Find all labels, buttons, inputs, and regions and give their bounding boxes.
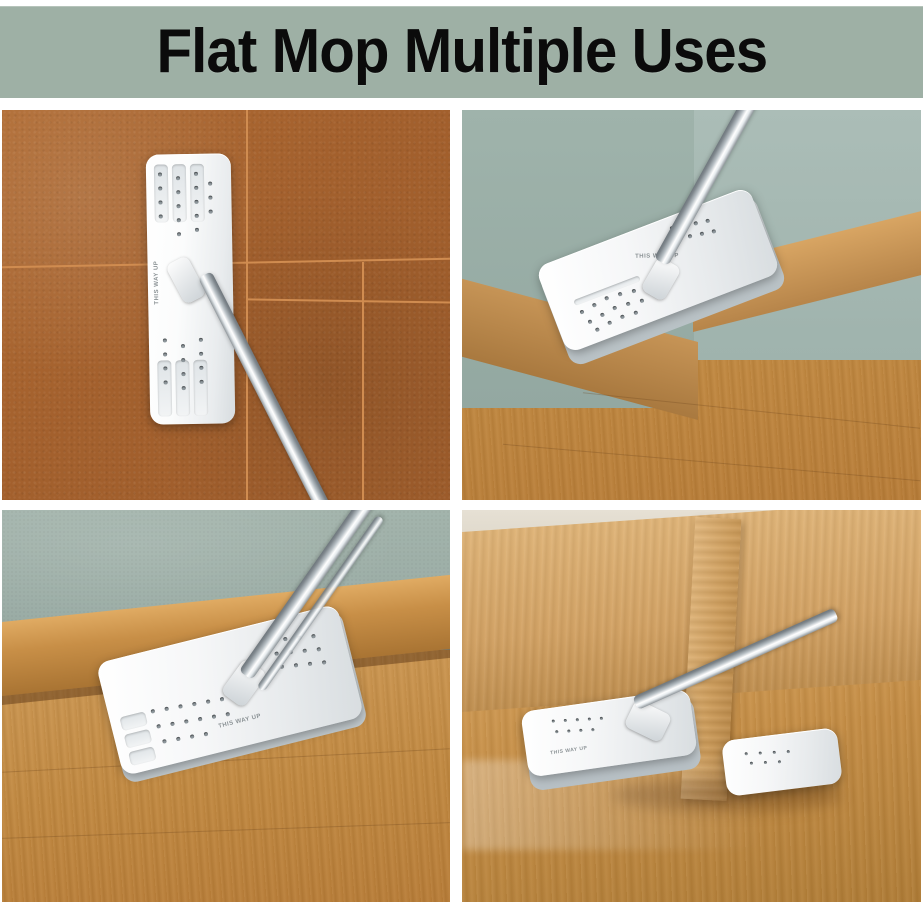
mop-vent-holes xyxy=(745,745,811,771)
panel-corners: THIS WAY UP Corners xyxy=(462,110,921,500)
mop-plate-text: THIS WAY UP xyxy=(154,261,161,305)
mop-plate-text: THIS WAY UP xyxy=(550,745,588,756)
mop-slot xyxy=(128,746,157,766)
panel-baseboard: THIS WAY UP Baseboard xyxy=(2,510,450,902)
panel-walls-windows: THIS WAY UP Walls/Windows xyxy=(2,110,450,500)
product-infographic: Flat Mop Multiple Uses xyxy=(0,0,923,922)
header-banner: Flat Mop Multiple Uses xyxy=(0,6,923,98)
mop-slot xyxy=(119,711,148,731)
panel-under-furniture: THIS WAY UP Under Furniture xyxy=(462,510,921,902)
scene-tile-wall: THIS WAY UP xyxy=(2,110,450,500)
tile-grout-line xyxy=(362,262,364,500)
mop-vent-holes xyxy=(163,338,216,419)
scene-under-furniture: THIS WAY UP xyxy=(462,510,921,902)
page-title: Flat Mop Multiple Uses xyxy=(156,21,767,83)
panel-grid: THIS WAY UP Walls/Windows xyxy=(0,110,923,902)
tile-grout-line xyxy=(246,110,248,500)
scene-baseboard: THIS WAY UP xyxy=(2,510,450,902)
mop-slot xyxy=(124,729,153,749)
scene-corner: THIS WAY UP xyxy=(462,110,921,500)
